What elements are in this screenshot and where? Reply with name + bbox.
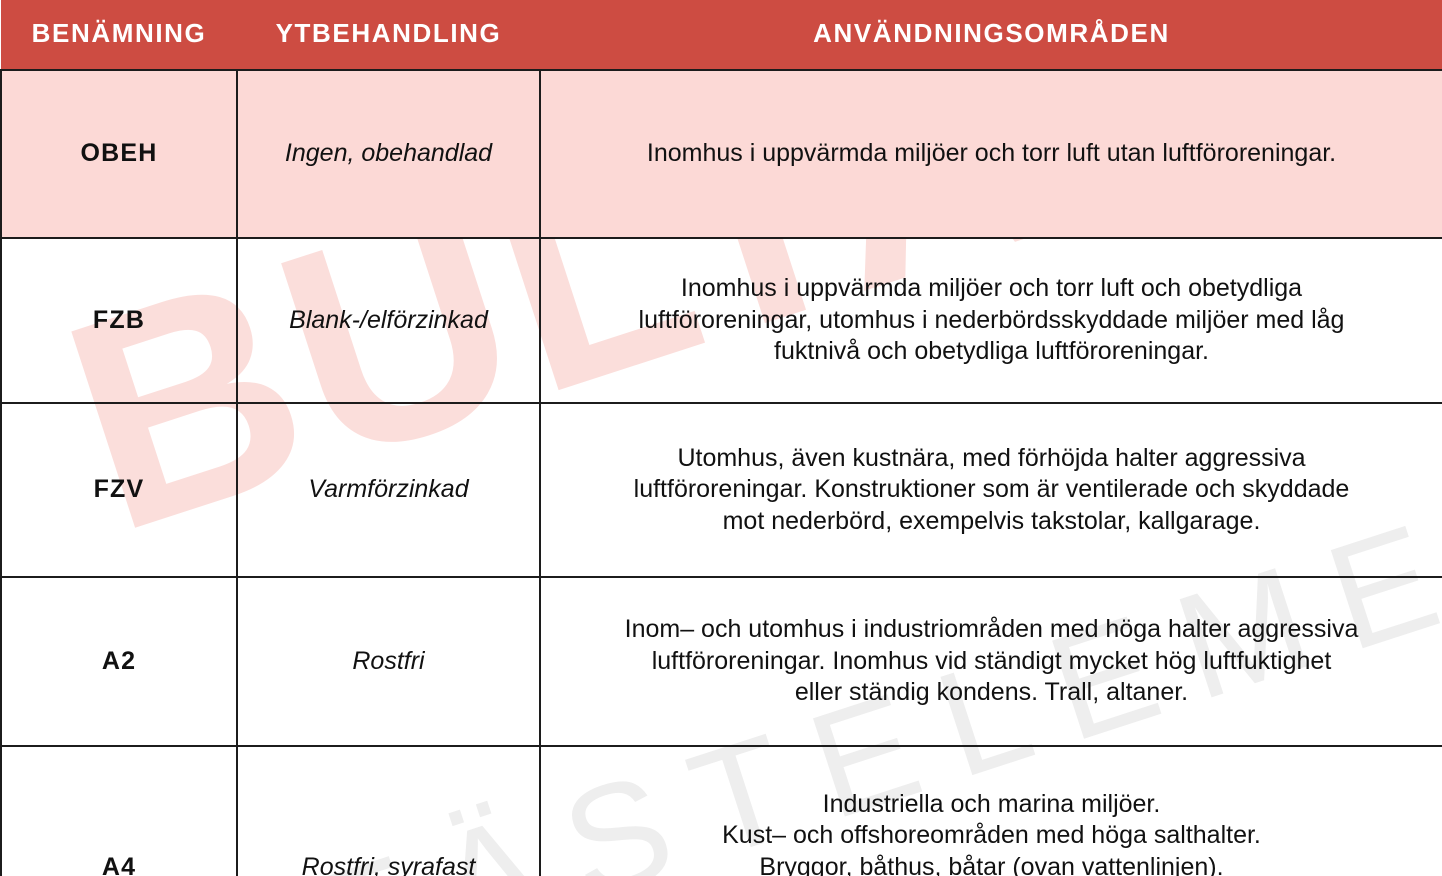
cell-finish: Varmförzinkad bbox=[237, 403, 540, 577]
cell-finish: Rostfri bbox=[237, 577, 540, 746]
cell-finish: Rostfri, syrafast bbox=[237, 746, 540, 876]
description-line: Industriella och marina miljöer. bbox=[553, 789, 1430, 821]
cell-description: Inom– och utomhus i industriområden med … bbox=[540, 577, 1442, 746]
table-row: FZB Blank-/elförzinkad Inomhus i uppvärm… bbox=[1, 238, 1442, 403]
description-line: mot nederbörd, exempelvis takstolar, kal… bbox=[553, 506, 1430, 538]
description-line: Inom– och utomhus i industriområden med … bbox=[553, 614, 1430, 646]
cell-description: Industriella och marina miljöer. Kust– o… bbox=[540, 746, 1442, 876]
table-header: BENÄMNING YTBEHANDLING ANVÄNDNINGSOMRÅDE… bbox=[1, 0, 1442, 70]
description-line: luftföroreningar, utomhus i nederbördssk… bbox=[553, 305, 1430, 337]
cell-code: FZV bbox=[1, 403, 237, 577]
description-line: luftföroreningar. Konstruktioner som är … bbox=[553, 474, 1430, 506]
table-body: OBEH Ingen, obehandlad Inomhus i uppvärm… bbox=[1, 70, 1442, 876]
table-row: A4 Rostfri, syrafast Industriella och ma… bbox=[1, 746, 1442, 876]
description-line: fuktnivå och obetydliga luftföroreningar… bbox=[553, 336, 1430, 368]
column-header-benamning: BENÄMNING bbox=[1, 0, 237, 70]
surface-treatment-table: BENÄMNING YTBEHANDLING ANVÄNDNINGSOMRÅDE… bbox=[0, 0, 1442, 876]
cell-description: Utomhus, även kustnära, med förhöjda hal… bbox=[540, 403, 1442, 577]
description-line: Bryggor, båthus, båtar (ovan vattenlinje… bbox=[553, 852, 1430, 876]
cell-finish: Blank-/elförzinkad bbox=[237, 238, 540, 403]
surface-treatment-table-container: BENÄMNING YTBEHANDLING ANVÄNDNINGSOMRÅDE… bbox=[0, 0, 1442, 876]
column-header-ytbehandling: YTBEHANDLING bbox=[237, 0, 540, 70]
description-line: Utomhus, även kustnära, med förhöjda hal… bbox=[553, 443, 1430, 475]
cell-description: Inomhus i uppvärmda miljöer och torr luf… bbox=[540, 70, 1442, 238]
cell-description: Inomhus i uppvärmda miljöer och torr luf… bbox=[540, 238, 1442, 403]
cell-code: A2 bbox=[1, 577, 237, 746]
description-line: Kust– och offshoreområden med höga salth… bbox=[553, 820, 1430, 852]
cell-code: A4 bbox=[1, 746, 237, 876]
cell-code: OBEH bbox=[1, 70, 237, 238]
page-root: BULTAB FÄSTELEMENT BENÄMNING YTBEHANDLIN… bbox=[0, 0, 1442, 876]
table-header-row: BENÄMNING YTBEHANDLING ANVÄNDNINGSOMRÅDE… bbox=[1, 0, 1442, 70]
description-line: luftföroreningar. Inomhus vid ständigt m… bbox=[553, 646, 1430, 678]
description-line: eller ständig kondens. Trall, altaner. bbox=[553, 677, 1430, 709]
table-row: A2 Rostfri Inom– och utomhus i industrio… bbox=[1, 577, 1442, 746]
description-line: Inomhus i uppvärmda miljöer och torr luf… bbox=[553, 138, 1430, 170]
cell-code: FZB bbox=[1, 238, 237, 403]
cell-finish: Ingen, obehandlad bbox=[237, 70, 540, 238]
description-line: Inomhus i uppvärmda miljöer och torr luf… bbox=[553, 273, 1430, 305]
table-row: FZV Varmförzinkad Utomhus, även kustnära… bbox=[1, 403, 1442, 577]
table-row: OBEH Ingen, obehandlad Inomhus i uppvärm… bbox=[1, 70, 1442, 238]
column-header-anvandningsomraden: ANVÄNDNINGSOMRÅDEN bbox=[540, 0, 1442, 70]
